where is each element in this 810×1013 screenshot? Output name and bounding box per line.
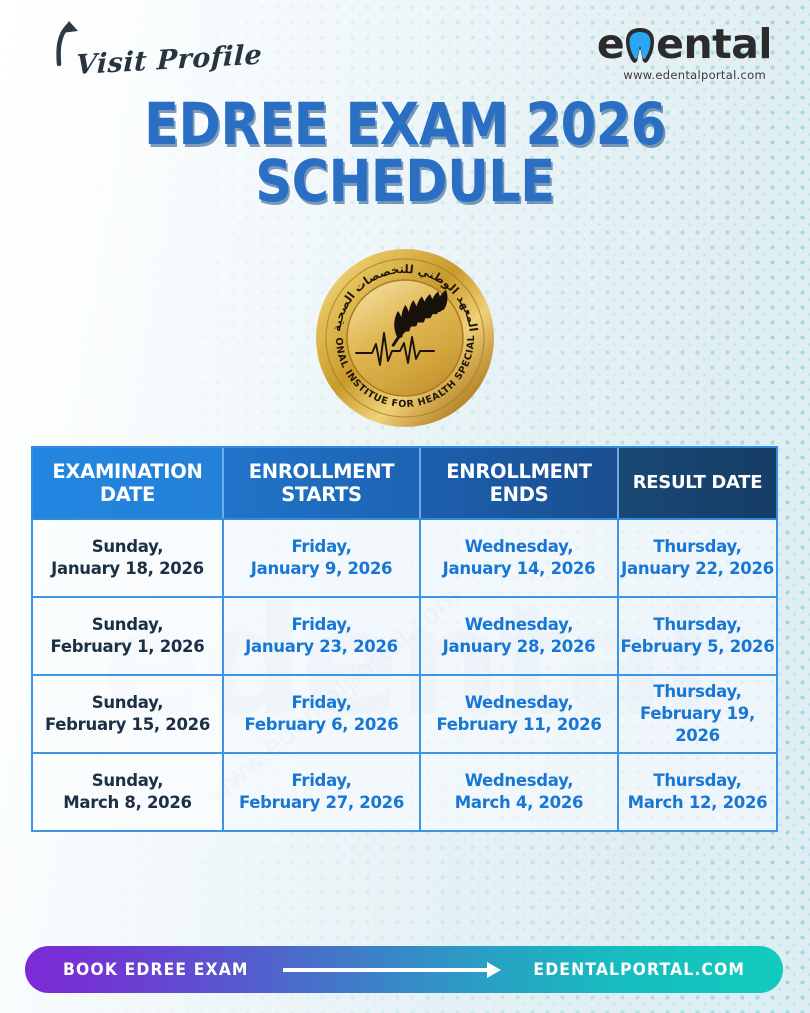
- table-row: Sunday, February 15, 2026 Friday, Februa…: [33, 676, 776, 754]
- cta-bar[interactable]: BOOK EDREE EXAM EDENTALPORTAL.COM: [25, 946, 783, 993]
- visit-profile-label: Visit Profile: [76, 40, 263, 82]
- cell-result-date: Thursday, February 19, 2026: [619, 676, 776, 752]
- table-row: Sunday, March 8, 2026 Friday, February 2…: [33, 754, 776, 830]
- cell-enrollment-ends: Wednesday, January 14, 2026: [421, 520, 619, 596]
- table-row: Sunday, February 1, 2026 Friday, January…: [33, 598, 776, 676]
- cell-examination-date: Sunday, February 1, 2026: [33, 598, 224, 674]
- cell-enrollment-starts: Friday, February 27, 2026: [224, 754, 421, 830]
- brand-url: www.edentalportal.com: [532, 68, 772, 82]
- column-header-enrollment-starts: ENROLLMENT STARTS: [224, 448, 421, 518]
- column-header-examination-date: EXAMINATION DATE: [33, 448, 224, 518]
- page-title: EDREE EXAM 2026 SCHEDULE: [49, 96, 762, 210]
- cell-examination-date: Sunday, January 18, 2026: [33, 520, 224, 596]
- cell-enrollment-starts: Friday, January 9, 2026: [224, 520, 421, 596]
- tooth-icon: [625, 26, 655, 64]
- page-title-line2: SCHEDULE: [49, 153, 762, 210]
- cell-examination-date: Sunday, March 8, 2026: [33, 754, 224, 830]
- cell-enrollment-ends: Wednesday, January 28, 2026: [421, 598, 619, 674]
- visit-profile-callout[interactable]: Visit Profile: [50, 14, 280, 94]
- cell-enrollment-ends: Wednesday, February 11, 2026: [421, 676, 619, 752]
- cta-label: BOOK EDREE EXAM: [63, 960, 249, 980]
- poster-canvas: Visit Profile e ental www.edentalportal.…: [0, 0, 810, 1013]
- brand-name-prefix: e: [597, 24, 624, 65]
- gold-seal-icon: المعهد الوطني للتخصصات الصحية NATIONAL I…: [314, 247, 496, 429]
- column-header-enrollment-ends: ENROLLMENT ENDS: [421, 448, 619, 518]
- schedule-table: EXAMINATION DATE ENROLLMENT STARTS ENROL…: [31, 446, 778, 832]
- table-row: Sunday, January 18, 2026 Friday, January…: [33, 520, 776, 598]
- cell-examination-date: Sunday, February 15, 2026: [33, 676, 224, 752]
- brand-logo[interactable]: e ental www.edentalportal.com: [532, 24, 772, 82]
- table-body: Sunday, January 18, 2026 Friday, January…: [31, 520, 778, 832]
- cell-result-date: Thursday, January 22, 2026: [619, 520, 776, 596]
- cell-enrollment-starts: Friday, January 23, 2026: [224, 598, 421, 674]
- cell-enrollment-ends: Wednesday, March 4, 2026: [421, 754, 619, 830]
- cell-result-date: Thursday, March 12, 2026: [619, 754, 776, 830]
- cta-url[interactable]: EDENTALPORTAL.COM: [533, 960, 745, 980]
- cell-enrollment-starts: Friday, February 6, 2026: [224, 676, 421, 752]
- brand-wordmark: e ental: [532, 24, 772, 65]
- column-header-result-date: RESULT DATE: [619, 448, 776, 518]
- brand-name-suffix: ental: [656, 24, 772, 65]
- cell-result-date: Thursday, February 5, 2026: [619, 598, 776, 674]
- table-header-row: EXAMINATION DATE ENROLLMENT STARTS ENROL…: [31, 446, 778, 520]
- right-arrow-icon: [283, 962, 501, 978]
